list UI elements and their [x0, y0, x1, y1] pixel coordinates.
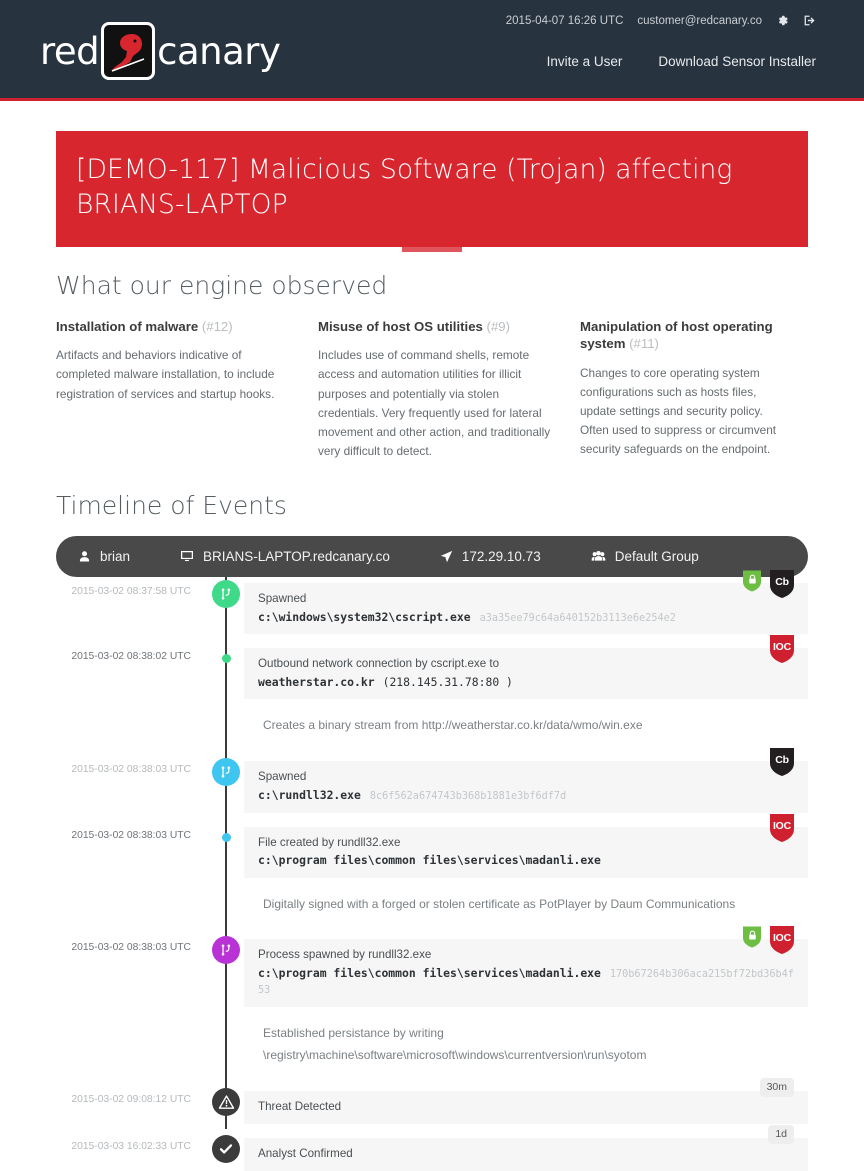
timeline-node-process-fork-icon[interactable]	[212, 936, 240, 964]
event-annotation-line: Digitally signed with a forged or stolen…	[263, 893, 808, 916]
duration-badge: 30m	[760, 1078, 794, 1097]
page-content: [DEMO-117] Malicious Software (Trojan) a…	[0, 131, 864, 1171]
timeline-gap	[56, 1124, 808, 1138]
duration-badge: 1d	[768, 1125, 794, 1144]
download-sensor-installer-link[interactable]: Download Sensor Installer	[658, 54, 816, 69]
event-annotation: Creates a binary stream from http://weat…	[244, 699, 808, 753]
user-icon	[78, 550, 91, 563]
event-timestamp: 2015-03-02 08:38:03 UTC	[56, 761, 208, 775]
timeline-gap	[56, 634, 808, 648]
alert-banner-title: [DEMO-117] Malicious Software (Trojan) a…	[56, 131, 808, 247]
badge-label: IOC	[773, 641, 791, 653]
check-circle-icon	[218, 1141, 234, 1157]
lock-icon[interactable]	[743, 570, 761, 592]
timeline-gap	[56, 753, 808, 761]
event-body[interactable]: CbSpawnedc:\windows\system32\cscript.exe…	[244, 583, 808, 634]
canary-bird-logo-icon	[101, 22, 155, 80]
event-badges: 30m	[760, 1078, 794, 1097]
event-node	[208, 583, 244, 608]
event-path-value: c:\program files\common files\services\m…	[258, 966, 601, 980]
observed-behavior-title: Manipulation of host operating system	[580, 319, 773, 351]
event-badges: IOC	[770, 814, 794, 842]
event-description: Process spawned by rundll32.exe	[258, 947, 796, 963]
canary-bird-icon	[108, 29, 148, 75]
event-path: c:\windows\system32\cscript.exea3a35ee79…	[258, 610, 796, 626]
event-path: weatherstar.co.kr(218.145.31.78:80 )	[258, 675, 796, 690]
event-node	[208, 1138, 244, 1163]
timeline-event: 2015-03-02 08:38:03 UTCIOCFile created b…	[56, 827, 808, 878]
lock-icon[interactable]	[743, 926, 761, 948]
observed-behavior-description: Changes to core operating system configu…	[580, 364, 794, 460]
event-path-value: weatherstar.co.kr	[258, 675, 375, 689]
event-description: File created by rundll32.exe	[258, 835, 796, 851]
process-fork-icon	[219, 943, 233, 957]
observed-behaviors-grid: Installation of malware (#12) Artifacts …	[56, 318, 808, 461]
badge-ioc[interactable]: IOC	[770, 814, 794, 842]
event-body[interactable]: IOCOutbound network connection by cscrip…	[244, 648, 808, 699]
event-path-value: c:\windows\system32\cscript.exe	[258, 610, 471, 624]
observed-behavior-heading: Manipulation of host operating system (#…	[580, 318, 794, 353]
timeline-node-dot	[222, 833, 231, 842]
timeline-gap	[56, 931, 808, 939]
badge-icon	[748, 574, 757, 585]
event-file-hash: a3a35ee79c64a640152b3113e6e254e2	[480, 613, 676, 624]
brand-logo-red: red	[40, 30, 99, 73]
event-timestamp: 2015-03-02 08:38:03 UTC	[56, 939, 208, 953]
timeline-node-check-circle-icon[interactable]	[212, 1135, 240, 1163]
host-bar-group-label: Default Group	[615, 549, 699, 564]
event-annotation-line: Creates a binary stream from http://weat…	[263, 714, 808, 737]
observed-behavior-count: (#12)	[202, 319, 233, 334]
observed-behavior-description: Includes use of command shells, remote a…	[318, 346, 554, 461]
timeline-gap	[56, 813, 808, 827]
event-body[interactable]: IOCProcess spawned by rundll32.exec:\pro…	[244, 939, 808, 1006]
badge-label: Cb	[775, 754, 789, 766]
brand-logo[interactable]: red canary	[40, 22, 280, 80]
badge-cb[interactable]: Cb	[770, 748, 794, 776]
event-path: c:\rundll32.exe8c6f562a674743b368b1881e3…	[258, 788, 796, 804]
host-bar-hostname-label: BRIANS-LAPTOP.redcanary.co	[203, 549, 390, 564]
observed-behavior-heading: Misuse of host OS utilities (#9)	[318, 318, 554, 335]
user-email: customer@redcanary.co	[637, 15, 762, 27]
event-description: Threat Detected	[258, 1099, 796, 1115]
desktop-icon	[180, 550, 194, 563]
event-annotation: Digitally signed with a forged or stolen…	[244, 878, 808, 932]
what-our-engine-observed-heading: What our engine observed	[56, 271, 824, 300]
host-bar-ip-label: 172.29.10.73	[462, 549, 541, 564]
lock-icon	[748, 574, 757, 585]
event-timestamp: 2015-03-03 16:02:33 UTC	[56, 1138, 208, 1152]
event-annotation-line: Established persistance by writing	[263, 1022, 808, 1045]
brand-logo-canary: canary	[157, 30, 280, 73]
event-node	[208, 648, 244, 663]
events-timeline: 2015-03-02 08:37:58 UTCCbSpawnedc:\windo…	[56, 577, 808, 1171]
users-group-icon	[591, 550, 606, 563]
host-bar-user[interactable]: brian	[78, 549, 130, 564]
event-description: Spawned	[258, 591, 796, 607]
gear-icon[interactable]	[776, 14, 789, 27]
event-badges: IOC	[743, 926, 794, 954]
host-bar-hostname[interactable]: BRIANS-LAPTOP.redcanary.co	[180, 549, 390, 564]
event-timestamp: 2015-03-02 08:37:58 UTC	[56, 583, 208, 597]
event-node	[208, 1091, 244, 1116]
observed-behavior-title: Misuse of host OS utilities	[318, 319, 483, 334]
process-fork-icon	[219, 587, 233, 601]
event-node	[208, 939, 244, 964]
event-description: Analyst Confirmed	[258, 1146, 796, 1162]
badge-ioc[interactable]: IOC	[770, 635, 794, 663]
observed-behavior-heading: Installation of malware (#12)	[56, 318, 292, 335]
timeline-node-process-fork-icon[interactable]	[212, 580, 240, 608]
timeline-of-events-heading: Timeline of Events	[56, 491, 824, 520]
event-annotation-line: \registry\machine\software\microsoft\win…	[263, 1044, 808, 1067]
timeline-event: 2015-03-02 08:37:58 UTCCbSpawnedc:\windo…	[56, 583, 808, 634]
top-navigation-bar: red canary 2015-04-07 16:26 UTC customer…	[0, 0, 864, 101]
host-summary-bar: brian BRIANS-LAPTOP.redcanary.co 172.29.…	[56, 536, 808, 577]
timeline-gap	[56, 1083, 808, 1091]
timeline-event: 2015-03-02 09:08:12 UTC30mThreat Detecte…	[56, 1091, 808, 1124]
badge-label: IOC	[773, 820, 791, 832]
event-description: Spawned	[258, 769, 796, 785]
event-annotation: Established persistance by writing\regis…	[244, 1007, 808, 1084]
event-description: Outbound network connection by cscript.e…	[258, 656, 796, 672]
badge-icon	[748, 930, 757, 941]
session-timestamp: 2015-04-07 16:26 UTC	[506, 15, 624, 27]
event-timestamp: 2015-03-02 08:38:02 UTC	[56, 648, 208, 662]
badge-label: IOC	[773, 932, 791, 944]
process-fork-icon	[219, 765, 233, 779]
event-node	[208, 827, 244, 842]
event-node	[208, 761, 244, 786]
event-file-hash: 8c6f562a674743b368b1881e3bf6df7d	[370, 791, 566, 802]
observed-behavior-description: Artifacts and behaviors indicative of co…	[56, 346, 292, 403]
event-path: c:\program files\common files\services\m…	[258, 853, 796, 868]
event-body[interactable]: CbSpawnedc:\rundll32.exe8c6f562a674743b3…	[244, 761, 808, 812]
observed-behavior-count: (#11)	[629, 336, 659, 351]
event-remote-address: (218.145.31.78:80 )	[383, 675, 513, 689]
event-timestamp: 2015-03-02 09:08:12 UTC	[56, 1091, 208, 1105]
warning-triangle-icon	[218, 1094, 235, 1111]
observed-behavior-count: (#9)	[487, 319, 510, 334]
timeline-node-process-fork-icon[interactable]	[212, 758, 240, 786]
timeline-event: 2015-03-02 08:38:03 UTCIOCProcess spawne…	[56, 939, 808, 1006]
badge-label: Cb	[775, 576, 789, 588]
header-meta-row: 2015-04-07 16:26 UTC customer@redcanary.…	[506, 14, 816, 27]
observed-behavior-card: Misuse of host OS utilities (#9) Include…	[318, 318, 580, 461]
logout-icon[interactable]	[803, 14, 816, 27]
location-arrow-icon	[440, 550, 453, 563]
event-badges: IOC	[770, 635, 794, 663]
invite-a-user-link[interactable]: Invite a User	[547, 54, 623, 69]
event-path-value: c:\rundll32.exe	[258, 788, 361, 802]
timeline-node-warning-triangle-icon[interactable]	[212, 1088, 240, 1116]
observed-behavior-card: Manipulation of host operating system (#…	[580, 318, 820, 461]
badge-cb[interactable]: Cb	[770, 570, 794, 598]
timeline-event: 2015-03-02 08:38:03 UTCCbSpawnedc:\rundl…	[56, 761, 808, 812]
badge-ioc[interactable]: IOC	[770, 926, 794, 954]
event-timestamp: 2015-03-02 08:38:03 UTC	[56, 827, 208, 841]
lock-icon	[748, 930, 757, 941]
event-path: c:\program files\common files\services\m…	[258, 966, 796, 998]
header-nav-links: Invite a User Download Sensor Installer	[547, 54, 816, 69]
observed-behavior-card: Installation of malware (#12) Artifacts …	[56, 318, 318, 461]
timeline-node-dot	[222, 654, 231, 663]
event-body[interactable]: IOCFile created by rundll32.exec:\progra…	[244, 827, 808, 878]
host-bar-user-label: brian	[100, 549, 130, 564]
host-bar-group[interactable]: Default Group	[591, 549, 699, 564]
event-badges: 1d	[768, 1125, 794, 1144]
observed-behavior-title: Installation of malware	[56, 319, 198, 334]
event-body[interactable]: 30mThreat Detected	[244, 1091, 808, 1124]
event-badges: Cb	[770, 748, 794, 776]
host-bar-ip[interactable]: 172.29.10.73	[440, 549, 541, 564]
event-badges: Cb	[743, 570, 794, 598]
event-path-value: c:\program files\common files\services\m…	[258, 853, 601, 867]
timeline-event: 2015-03-02 08:38:02 UTCIOCOutbound netwo…	[56, 648, 808, 699]
